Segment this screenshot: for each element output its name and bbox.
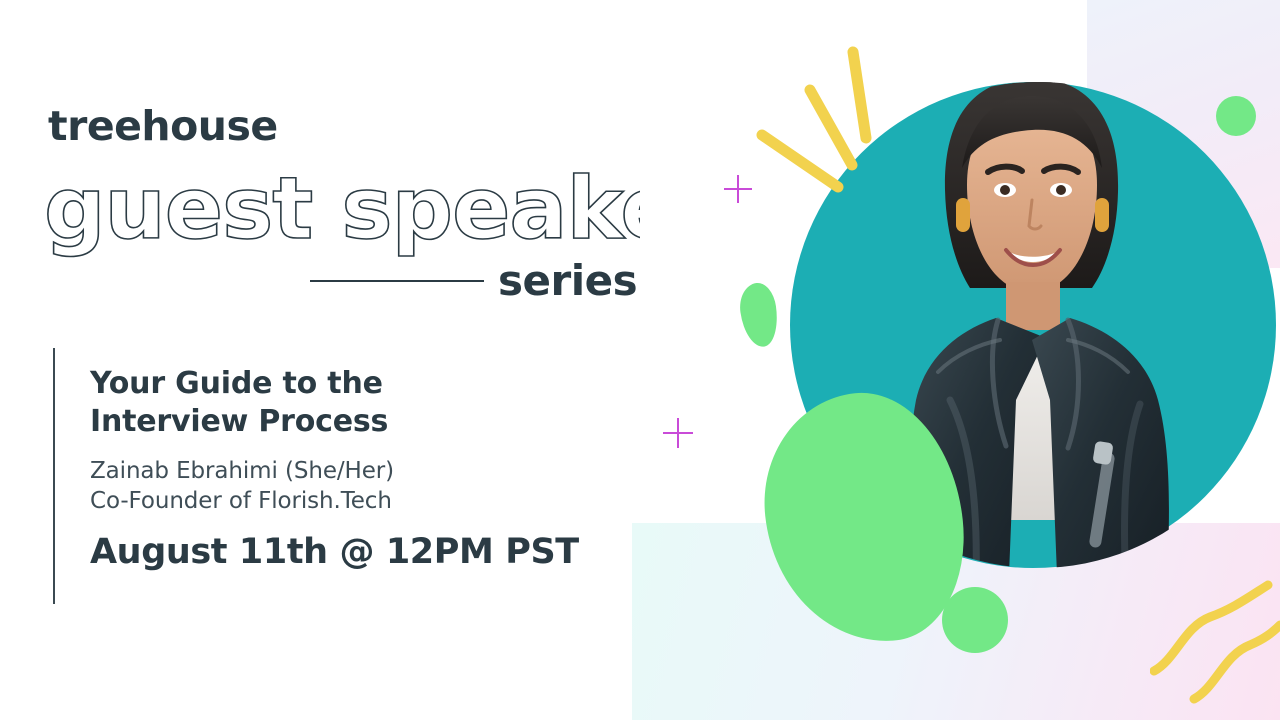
series-label: series <box>498 260 637 302</box>
talk-details-block: Your Guide to the Interview Process Zain… <box>90 365 630 571</box>
guest-speaker-promo-slide: treehouse guest speaker series Your Guid… <box>0 0 1280 720</box>
talk-title: Your Guide to the Interview Process <box>90 365 630 442</box>
plus-mark-icon-upper <box>724 175 752 203</box>
event-datetime: August 11th @ 12PM PST <box>90 533 630 572</box>
plus-mark-icon-lower <box>663 418 693 448</box>
series-label-row: series <box>310 258 640 304</box>
wavy-lines-icon <box>1150 575 1280 705</box>
speaker-role: Co-Founder of Florish.Tech <box>90 486 630 517</box>
green-dot-shape-bottom-right <box>942 587 1008 653</box>
series-divider-rule <box>310 280 484 282</box>
svg-text:guest speaker: guest speaker <box>44 159 640 259</box>
green-blob-shape-small <box>737 281 782 349</box>
speaker-name: Zainab Ebrahimi (She/Her) <box>90 456 630 487</box>
page-title-guest-speaker: guest speaker <box>40 158 640 263</box>
vertical-accent-rule <box>53 348 55 604</box>
treehouse-wordmark: treehouse <box>48 106 278 147</box>
